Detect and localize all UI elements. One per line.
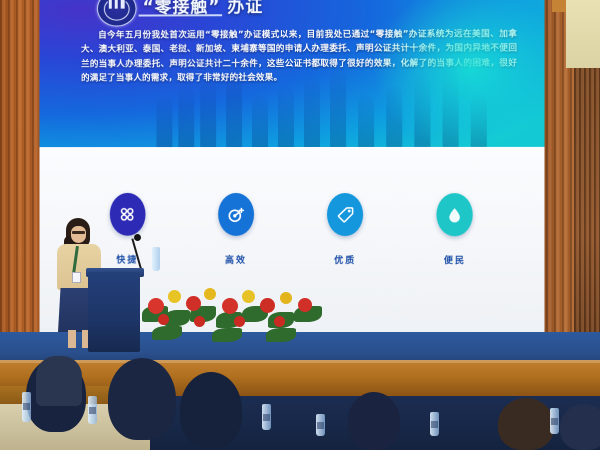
crowd-silhouette (156, 95, 172, 147)
flower-leaf (212, 328, 242, 342)
flower-bloom (222, 298, 238, 314)
water-bottle (550, 408, 559, 434)
notary-office-seal-icon (97, 0, 137, 27)
flower-bloom (204, 288, 216, 300)
presenter-face (71, 226, 86, 243)
crowd-silhouette (386, 86, 402, 147)
water-bottle (316, 414, 325, 436)
audience-attendee (108, 358, 176, 440)
flower-bloom (158, 314, 169, 325)
slide-body-text: 自今年五月份我处首次运用“零接触”办证模式以来，目前我处已通过“零接触”办证系统… (81, 27, 517, 86)
crowd-silhouette (304, 77, 320, 147)
stage-flower-arrangement (142, 272, 324, 350)
tag-icon (327, 193, 363, 236)
flower-leaf (266, 328, 296, 342)
flower-bloom (148, 298, 164, 314)
microphone-head-icon (134, 234, 141, 241)
audience-attendee-seated (36, 356, 82, 406)
flower-bloom (274, 316, 285, 327)
water-bottle (22, 392, 31, 422)
crowd-silhouette (443, 68, 459, 147)
feature-label: 高效 (190, 253, 282, 266)
flower-bloom (234, 316, 245, 327)
feature-label: 优质 (299, 253, 391, 266)
slide-body-paragraph: 自今年五月份我处首次运用“零接触”办证模式以来，目前我处已通过“零接触”办证系统… (81, 27, 517, 86)
flower-bloom (168, 290, 181, 303)
podium (88, 272, 140, 352)
feature-row: 快捷高效优质便民 (40, 193, 545, 267)
title-underline (139, 14, 223, 16)
ceiling-panel (566, 0, 600, 68)
podium-water-bottle (152, 247, 160, 271)
audience-attendee (560, 404, 600, 450)
flower-bloom (186, 296, 201, 311)
feature-label: 便民 (409, 253, 502, 266)
crowd-silhouette (414, 77, 430, 147)
flower-bloom (298, 298, 312, 312)
water-bottle (88, 396, 97, 424)
audience-attendee (498, 398, 554, 450)
ceiling-trim (552, 0, 566, 12)
crowd-silhouette (471, 95, 487, 147)
feature-item-3: 优质 (299, 193, 391, 266)
feature-item-4: 便民 (409, 193, 502, 266)
crowd-silhouette (278, 86, 294, 147)
flower-bloom (260, 298, 275, 313)
flower-bloom (194, 316, 205, 327)
audience-attendee (348, 392, 400, 450)
crowd-silhouette (358, 95, 374, 147)
presenter-badge (72, 272, 81, 283)
flower-leaf (152, 326, 182, 340)
flower-bloom (280, 292, 292, 304)
presenter-leg-left (68, 330, 76, 348)
flower-bloom (242, 290, 255, 303)
water-drop-icon (437, 193, 473, 236)
speed-gauge-icon (218, 193, 254, 236)
crowd-silhouette (252, 95, 268, 147)
water-bottle (262, 404, 271, 430)
grid-apps-icon (109, 193, 145, 236)
photo-scene: “零接触” 办证 自今年五月份我处首次运用“零接触”办证模式以来，目前我处已通过… (0, 0, 600, 450)
slide-header-band: “零接触” 办证 自今年五月份我处首次运用“零接触”办证模式以来，目前我处已通过… (40, 0, 545, 147)
crowd-silhouette (178, 86, 194, 147)
crowd-silhouette (330, 68, 346, 147)
presenter-glasses (72, 231, 85, 234)
audience-attendee (180, 372, 242, 448)
crowd-silhouette (200, 77, 216, 147)
feature-item-2: 高效 (190, 193, 282, 266)
water-bottle (430, 412, 439, 436)
